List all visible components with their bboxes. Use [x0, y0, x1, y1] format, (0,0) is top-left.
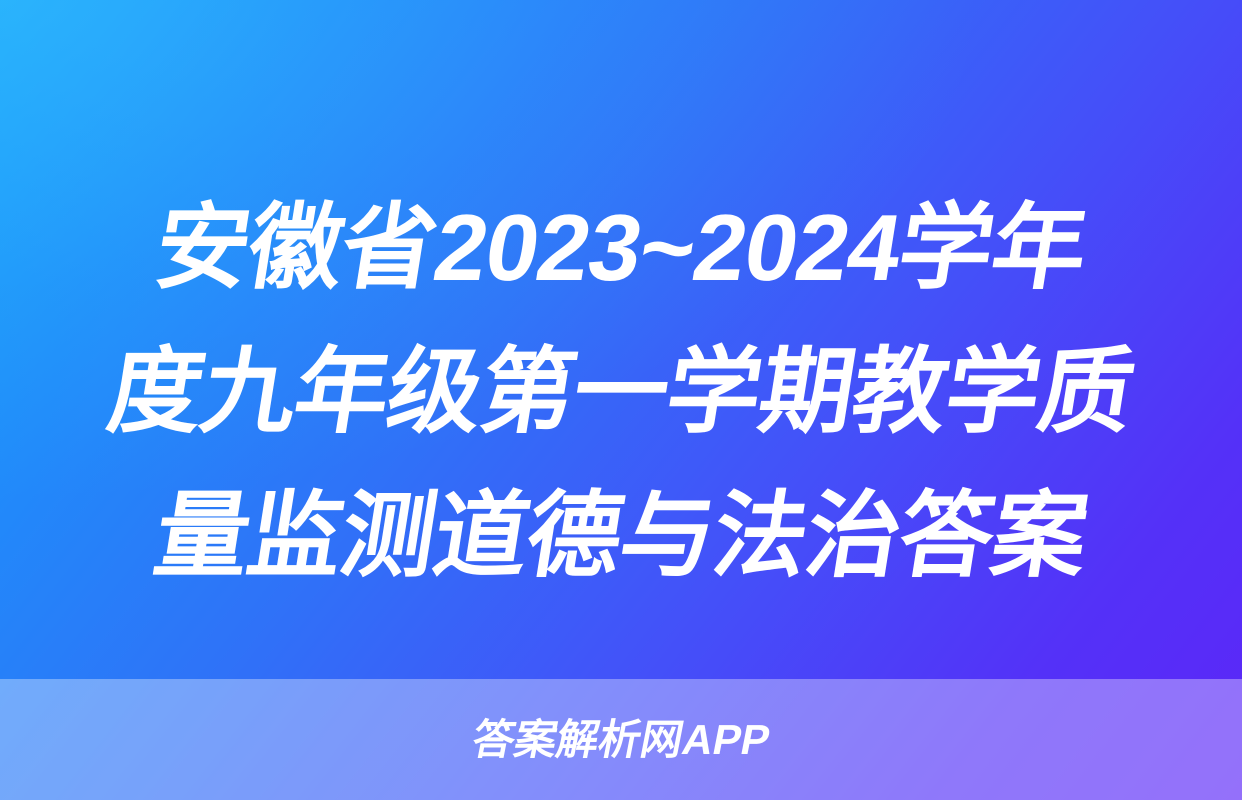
title-block: 安徽省2023~2024学年 度九年级第一学期教学质 量监测道德与法治答案	[0, 176, 1242, 608]
title-line-2: 度九年级第一学期教学质	[59, 320, 1184, 464]
footer-brand-text: 答案解析网APP	[468, 717, 773, 763]
title-line-3: 量监测道德与法治答案	[59, 464, 1184, 608]
title-line-1: 安徽省2023~2024学年	[59, 176, 1184, 320]
footer-brand-band: 答案解析网APP	[0, 679, 1242, 800]
answer-cover-card: 安徽省2023~2024学年 度九年级第一学期教学质 量监测道德与法治答案 答案…	[0, 0, 1242, 800]
